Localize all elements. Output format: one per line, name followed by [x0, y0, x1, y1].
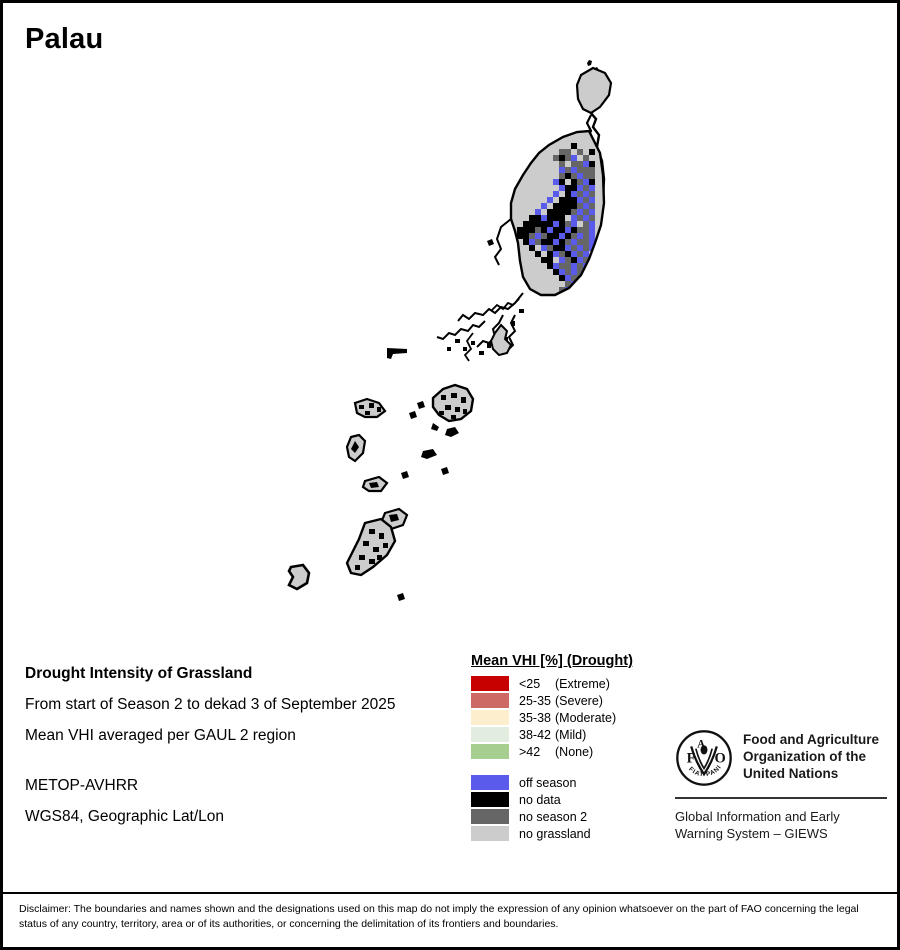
legend-title: Mean VHI [%] (Drought) — [471, 653, 681, 669]
description-period: From start of Season 2 to dekad 3 of Sep… — [25, 689, 465, 720]
description-sensor: METOP-AVHRR — [25, 770, 465, 801]
map-description-block: Drought Intensity of Grassland From star… — [25, 658, 465, 832]
palau-map-svg — [3, 3, 900, 643]
fao-header: F A O FIAT PANIS Food and Agriculture Or… — [675, 729, 887, 787]
island-southern-chain — [347, 509, 407, 601]
legend-item-no-grassland[interactable]: no grassland — [471, 825, 681, 842]
legend-label-extreme: (Extreme) — [555, 677, 610, 691]
legend-swatch-severe — [471, 693, 509, 708]
legend-label-no-season-2: no season 2 — [519, 810, 587, 824]
legend-item-no-season-2[interactable]: no season 2 — [471, 808, 681, 825]
legend-item-off-season[interactable]: off season — [471, 774, 681, 791]
giews-programme-name: Global Information and Early Warning Sys… — [675, 808, 887, 842]
legend-swatch-off-season — [471, 775, 509, 790]
svg-text:A: A — [697, 739, 705, 751]
legend-label-no-grassland: no grassland — [519, 827, 591, 841]
description-heading: Drought Intensity of Grassland — [25, 658, 465, 689]
legend-range-none: >42 — [519, 745, 555, 759]
legend-label-no-data: no data — [519, 793, 561, 807]
island-angaur — [289, 565, 309, 589]
legend-range-moderate: 35-38 — [519, 711, 555, 725]
legend-swatch-no-season-2 — [471, 809, 509, 824]
disclaimer-divider — [3, 892, 897, 894]
giews-line-1: Global Information and Early — [675, 808, 887, 825]
legend-swatch-none — [471, 744, 509, 759]
legend-item-extreme[interactable]: <25 (Extreme) — [471, 675, 681, 692]
island-rock-islands — [401, 385, 473, 479]
legend-label-none: (None) — [555, 745, 593, 759]
svg-text:O: O — [714, 751, 725, 767]
disclaimer-text: Disclaimer: The boundaries and names sho… — [19, 902, 885, 932]
description-metric: Mean VHI averaged per GAUL 2 region — [25, 720, 465, 751]
legend-gap — [471, 760, 681, 774]
fao-org-line-2: Organization of the — [743, 748, 879, 765]
map-page: Palau — [0, 0, 900, 950]
fao-branding-block: F A O FIAT PANIS Food and Agriculture Or… — [675, 729, 887, 842]
legend-swatch-extreme — [471, 676, 509, 691]
fao-logo-icon: F A O FIAT PANIS — [675, 729, 733, 787]
map-canvas[interactable] — [3, 3, 900, 643]
legend-item-none[interactable]: >42 (None) — [471, 743, 681, 760]
description-spacer — [25, 751, 465, 770]
legend-label-moderate: (Moderate) — [555, 711, 616, 725]
legend-item-no-data[interactable]: no data — [471, 791, 681, 808]
legend-range-severe: 25-35 — [519, 694, 555, 708]
legend-swatch-mild — [471, 727, 509, 742]
svg-text:F: F — [687, 751, 696, 767]
legend-label-off-season: off season — [519, 776, 576, 790]
map-legend: Mean VHI [%] (Drought) <25 (Extreme) 25-… — [471, 653, 681, 842]
legend-swatch-no-grassland — [471, 826, 509, 841]
island-reef-west — [387, 348, 407, 359]
fao-org-line-1: Food and Agriculture — [743, 731, 879, 748]
map-layer-islands — [289, 60, 613, 601]
island-babeldaob — [487, 123, 613, 303]
legend-swatch-no-data — [471, 792, 509, 807]
legend-item-moderate[interactable]: 35-38 (Moderate) — [471, 709, 681, 726]
fao-org-line-3: United Nations — [743, 765, 879, 782]
legend-label-mild: (Mild) — [555, 728, 586, 742]
legend-range-mild: 38-42 — [519, 728, 555, 742]
legend-label-severe: (Severe) — [555, 694, 603, 708]
legend-item-mild[interactable]: 38-42 (Mild) — [471, 726, 681, 743]
legend-range-extreme: <25 — [519, 677, 555, 691]
giews-line-2: Warning System – GIEWS — [675, 825, 887, 842]
island-peleliu-group — [347, 399, 387, 491]
description-projection: WGS84, Geographic Lat/Lon — [25, 801, 465, 832]
fao-divider — [675, 797, 887, 799]
legend-swatch-moderate — [471, 710, 509, 725]
island-koror-reefs — [437, 293, 524, 361]
fao-organization-name: Food and Agriculture Organization of the… — [743, 729, 879, 782]
legend-item-severe[interactable]: 25-35 (Severe) — [471, 692, 681, 709]
